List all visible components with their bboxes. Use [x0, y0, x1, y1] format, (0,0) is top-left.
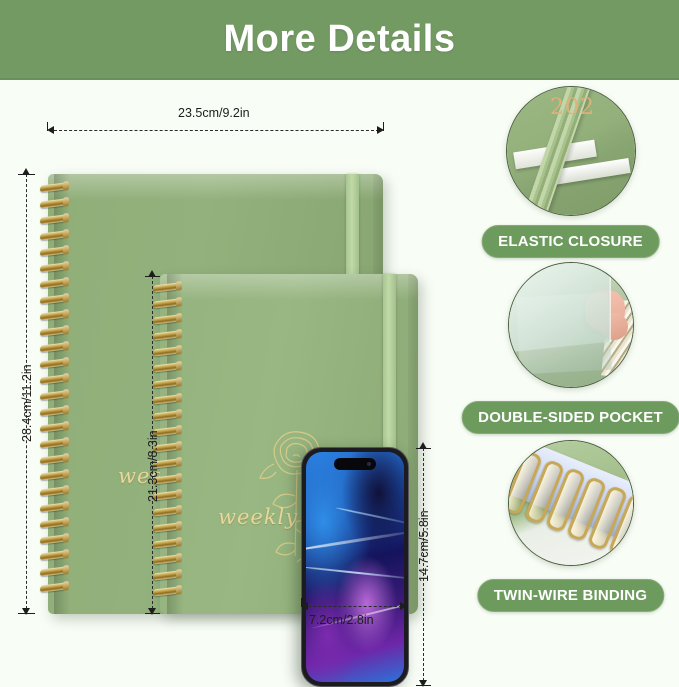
phone-screen: [306, 452, 404, 682]
cover-sheen: [160, 274, 418, 300]
dimension-tick: [145, 613, 160, 614]
wallpaper-wave: [306, 565, 404, 580]
elastic-closure-photo: 202: [507, 87, 635, 215]
header-banner: More Details: [0, 0, 679, 80]
twin-wire-coil-large: [40, 174, 66, 614]
feature-elastic-closure: 202 ELASTIC CLOSURE: [462, 84, 679, 266]
smartphone-mockup: [301, 447, 409, 687]
dimension-label-width-large: 23.5cm/9.2in: [178, 106, 250, 120]
dimension-tick: [47, 122, 48, 131]
feature-photo-circle: [508, 440, 634, 566]
dimension-tick: [18, 174, 35, 175]
pocket-sheet-front: [508, 262, 611, 353]
dimension-tick: [18, 613, 35, 614]
dimension-label-height-large: 28.4cm/11.2in: [20, 364, 34, 442]
feature-photo-circle: [508, 262, 634, 388]
feature-label-elastic-closure: ELASTIC CLOSURE: [481, 225, 660, 258]
content-stage: 23.5cm/9.2in wee 16cm/6.3in: [0, 82, 679, 628]
dimension-tick: [406, 598, 407, 607]
dimension-tick: [145, 276, 160, 277]
dimension-tick: [383, 122, 384, 131]
dimension-line-width-phone: [308, 606, 402, 607]
wallpaper-wave: [306, 529, 404, 553]
feature-double-sided-pocket: DOUBLE-SIDED POCKET: [462, 260, 679, 442]
dimension-tick: [301, 598, 302, 607]
feature-label-double-sided-pocket: DOUBLE-SIDED POCKET: [461, 401, 679, 434]
page-title: More Details: [224, 18, 456, 61]
dimension-label-width-phone: 7.2cm/2.8in: [309, 613, 374, 627]
size-comparison-group: 23.5cm/9.2in wee 16cm/6.3in: [0, 82, 460, 628]
dimension-tick: [416, 448, 431, 449]
feature-label-twin-wire-binding: TWIN-WIRE BINDING: [477, 579, 664, 612]
dimension-label-height-phone: 14.7cm/5.8in: [417, 510, 431, 582]
feature-panels: 202 ELASTIC CLOSURE DOUBLE-SIDED POCK: [462, 82, 679, 628]
twin-wire-binding-photo: [509, 441, 633, 565]
feature-twin-wire-binding: TWIN-WIRE BINDING: [462, 438, 679, 620]
dimension-label-height-small: 21.3cm/8.3in: [146, 430, 160, 502]
product-detail-image: More Details 23.5cm/9.2in wee 16cm/: [0, 0, 679, 628]
feature-photo-circle: 202: [506, 86, 636, 216]
dimension-arrow-left: [301, 602, 308, 610]
dimension-arrow-left: [47, 126, 54, 134]
dimension-tick: [416, 685, 431, 686]
double-sided-pocket-photo: [509, 263, 633, 387]
dynamic-island: [334, 458, 376, 470]
wallpaper-wave: [336, 507, 404, 527]
dimension-line-width-large: [54, 130, 379, 131]
cover-sheen: [48, 174, 383, 200]
year-foil-text: 202: [550, 95, 595, 120]
